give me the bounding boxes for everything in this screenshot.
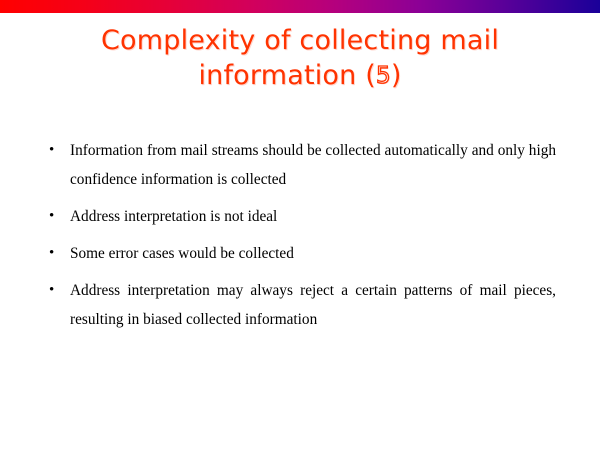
bullet-marker-icon: • xyxy=(44,202,70,231)
list-item: • Address interpretation is not ideal xyxy=(44,202,556,231)
list-item: • Information from mail streams should b… xyxy=(44,136,556,194)
slide-title-line-2: information (5) xyxy=(0,58,600,95)
list-item-text: Address interpretation is not ideal xyxy=(70,202,556,231)
slide-body-bullet-list: • Information from mail streams should b… xyxy=(44,136,556,334)
slide-title-line-2-suffix: ) xyxy=(391,60,402,91)
bullet-marker-icon: • xyxy=(44,239,70,268)
slide-title-line-1: Complexity of collecting mail xyxy=(0,23,600,58)
list-item: • Address interpretation may always reje… xyxy=(44,276,556,334)
list-item-text: Some error cases would be collected xyxy=(70,239,556,268)
presentation-slide: Complexity of collecting mail informatio… xyxy=(0,0,600,450)
slide-title: Complexity of collecting mail informatio… xyxy=(0,23,600,95)
slide-title-line-2-prefix: information ( xyxy=(198,60,376,91)
list-item: • Some error cases would be collected xyxy=(44,239,556,268)
decorative-gradient-bar xyxy=(0,0,600,13)
slide-number-glyph: 5 xyxy=(376,63,391,89)
bullet-marker-icon: • xyxy=(44,136,70,165)
list-item-text: Information from mail streams should be … xyxy=(70,136,556,194)
bullet-marker-icon: • xyxy=(44,276,70,305)
list-item-text: Address interpretation may always reject… xyxy=(70,276,556,334)
